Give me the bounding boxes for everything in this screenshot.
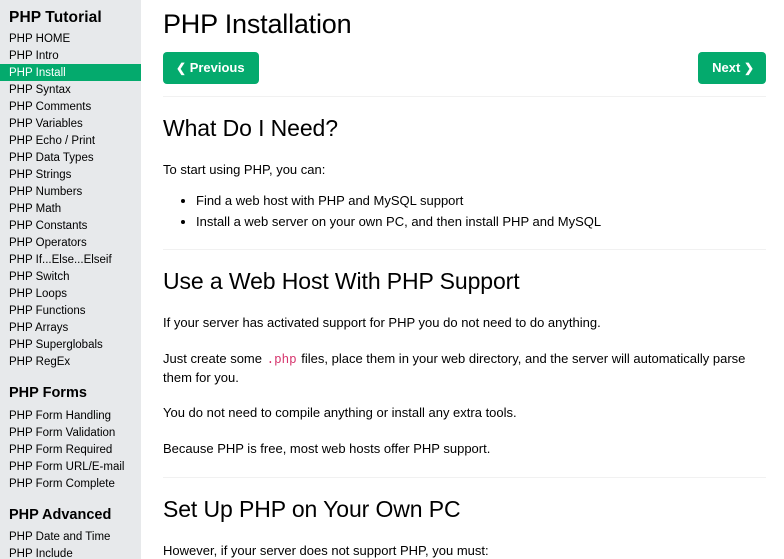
previous-button[interactable]: ❮ Previous <box>163 52 259 84</box>
list-item: Install a web server on your own PC, and… <box>196 212 766 232</box>
sidebar-item-php-comments[interactable]: PHP Comments <box>0 98 141 115</box>
sidebar-group-php-forms: PHP Forms <box>0 370 141 406</box>
section-1-heading: What Do I Need? <box>163 114 766 144</box>
section-divider-3 <box>163 477 766 478</box>
sidebar-item-php-include[interactable]: PHP Include <box>0 545 141 559</box>
section-3-intro: However, if your server does not support… <box>163 542 766 559</box>
sidebar-item-php-arrays[interactable]: PHP Arrays <box>0 319 141 336</box>
sidebar-item-php-constants[interactable]: PHP Constants <box>0 217 141 234</box>
section-2-paragraph-2: Just create some .php files, place them … <box>163 350 766 388</box>
sidebar-item-php-home[interactable]: PHP HOME <box>0 30 141 47</box>
section-divider-2 <box>163 249 766 250</box>
section-1-intro: To start using PHP, you can: <box>163 161 766 180</box>
sidebar-item-php-if-else-elseif[interactable]: PHP If...Else...Elseif <box>0 251 141 268</box>
sidebar-item-php-regex[interactable]: PHP RegEx <box>0 353 141 370</box>
previous-button-label: Previous <box>190 60 245 75</box>
chevron-left-icon: ❮ <box>176 61 186 75</box>
next-button-label: Next <box>712 60 740 75</box>
sidebar-item-php-strings[interactable]: PHP Strings <box>0 166 141 183</box>
sidebar-item-php-syntax[interactable]: PHP Syntax <box>0 81 141 98</box>
pager-buttons: ❮ Previous Next ❯ <box>163 52 766 96</box>
list-item: Find a web host with PHP and MySQL suppo… <box>196 191 766 211</box>
sidebar-group-php-advanced: PHP Advanced <box>0 492 141 528</box>
sidebar-item-php-numbers[interactable]: PHP Numbers <box>0 183 141 200</box>
main-content: PHP Installation ❮ Previous Next ❯ What … <box>141 0 784 559</box>
sidebar-item-php-form-complete[interactable]: PHP Form Complete <box>0 475 141 492</box>
section-set-up-php-on-your-own-pc: Set Up PHP on Your Own PC However, if yo… <box>163 495 766 559</box>
sidebar-item-php-switch[interactable]: PHP Switch <box>0 268 141 285</box>
section-2-paragraph-3: You do not need to compile anything or i… <box>163 404 766 423</box>
sidebar-item-php-loops[interactable]: PHP Loops <box>0 285 141 302</box>
sidebar-item-php-superglobals[interactable]: PHP Superglobals <box>0 336 141 353</box>
sidebar-item-php-intro[interactable]: PHP Intro <box>0 47 141 64</box>
chevron-right-icon: ❯ <box>744 61 754 75</box>
sidebar-item-php-variables[interactable]: PHP Variables <box>0 115 141 132</box>
sidebar-item-php-form-handling[interactable]: PHP Form Handling <box>0 407 141 424</box>
sidebar-title: PHP Tutorial <box>0 0 141 30</box>
code-php-extension: .php <box>266 353 298 367</box>
sidebar-item-php-operators[interactable]: PHP Operators <box>0 234 141 251</box>
next-button[interactable]: Next ❯ <box>698 52 766 84</box>
sidebar-item-php-form-url-email[interactable]: PHP Form URL/E-mail <box>0 458 141 475</box>
sidebar-item-php-form-required[interactable]: PHP Form Required <box>0 441 141 458</box>
sidebar-item-php-data-types[interactable]: PHP Data Types <box>0 149 141 166</box>
sidebar-item-php-date-and-time[interactable]: PHP Date and Time <box>0 528 141 545</box>
sidebar-item-php-math[interactable]: PHP Math <box>0 200 141 217</box>
section-1-list: Find a web host with PHP and MySQL suppo… <box>163 191 766 231</box>
sidebar: PHP Tutorial PHP HOME PHP Intro PHP Inst… <box>0 0 141 559</box>
section-3-heading: Set Up PHP on Your Own PC <box>163 495 766 525</box>
section-use-a-web-host: Use a Web Host With PHP Support If your … <box>163 267 766 459</box>
section-divider-1 <box>163 96 766 97</box>
section-2-heading: Use a Web Host With PHP Support <box>163 267 766 297</box>
sidebar-item-php-form-validation[interactable]: PHP Form Validation <box>0 424 141 441</box>
page-root: PHP Tutorial PHP HOME PHP Intro PHP Inst… <box>0 0 784 559</box>
section-what-do-i-need: What Do I Need? To start using PHP, you … <box>163 114 766 232</box>
section-2-paragraph-4: Because PHP is free, most web hosts offe… <box>163 440 766 459</box>
section-2-paragraph-1: If your server has activated support for… <box>163 314 766 333</box>
sidebar-item-php-functions[interactable]: PHP Functions <box>0 302 141 319</box>
section-2-p2-before: Just create some <box>163 351 262 366</box>
sidebar-item-php-echo-print[interactable]: PHP Echo / Print <box>0 132 141 149</box>
page-title: PHP Installation <box>163 8 766 42</box>
sidebar-item-php-install[interactable]: PHP Install <box>0 64 141 81</box>
